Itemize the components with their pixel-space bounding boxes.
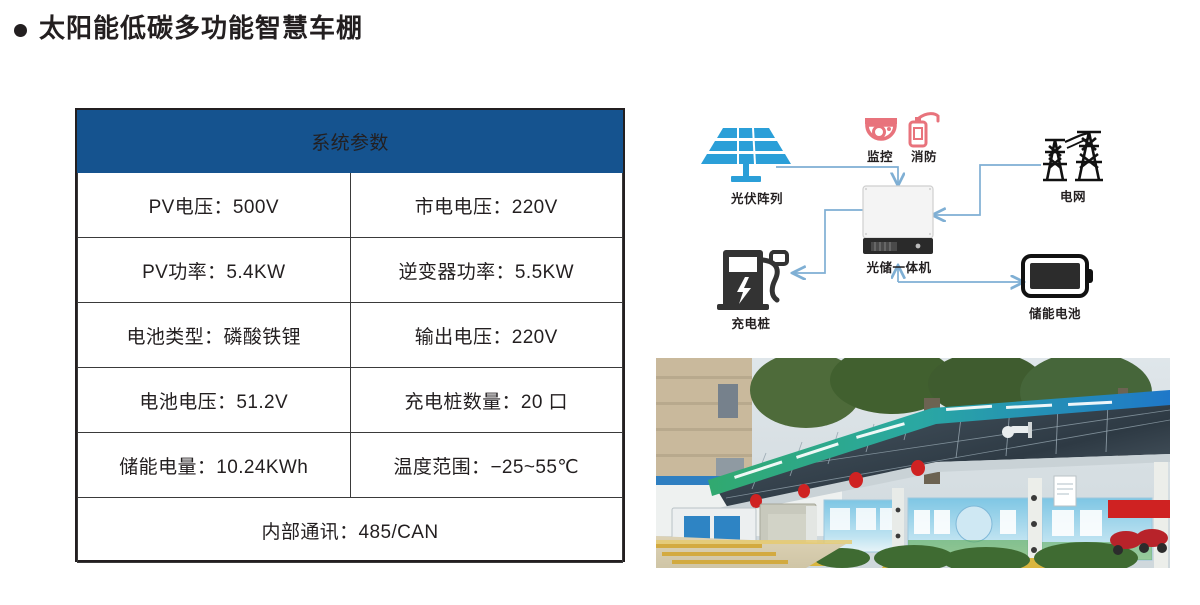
system-parameters-table: 系统参数 PV电压：500V 市电电压：220V PV功率：5.4KW 逆变器功… [75, 108, 625, 562]
table-header-row: 系统参数 [78, 111, 623, 173]
cell-pv-power: PV功率：5.4KW [78, 238, 351, 303]
hybrid-inverter-icon [863, 186, 933, 254]
fire-extinguisher-icon [910, 114, 938, 146]
table-row: 内部通讯：485/CAN [78, 498, 623, 563]
table-header-label: 系统参数 [78, 111, 623, 173]
storage-battery-icon [1023, 256, 1093, 296]
page-title-label: 太阳能低碳多功能智慧车棚 [39, 14, 363, 43]
cell-battery-voltage: 电池电压：51.2V [78, 368, 351, 433]
page-title: 太阳能低碳多功能智慧车棚 [14, 14, 363, 43]
table-row: PV功率：5.4KW 逆变器功率：5.5KW [78, 238, 623, 303]
solar-carport-photo [656, 358, 1170, 568]
system-flow-diagram: 光伏阵列 监控 消防 电网 光储一体机 充电桩 储能电池 [655, 100, 1185, 350]
cell-inverter-power: 逆变器功率：5.5KW [350, 238, 623, 303]
table-row: PV电压：500V 市电电压：220V [78, 173, 623, 238]
cell-mains-voltage: 市电电压：220V [350, 173, 623, 238]
label-battery: 储能电池 [1021, 303, 1089, 322]
table-row: 电池电压：51.2V 充电桩数量：20 口 [78, 368, 623, 433]
ev-charging-pile-icon [717, 250, 787, 310]
cell-battery-type: 电池类型：磷酸铁锂 [78, 303, 351, 368]
cell-output-voltage: 输出电压：220V [350, 303, 623, 368]
cell-internal-communication: 内部通讯：485/CAN [78, 498, 623, 563]
solar-panel-icon [701, 128, 791, 182]
slide-page: 太阳能低碳多功能智慧车棚 系统参数 PV电压：500V 市电电压：220V PV… [0, 0, 1200, 605]
table-row: 电池类型：磷酸铁锂 输出电压：220V [78, 303, 623, 368]
label-grid: 电网 [1043, 186, 1103, 205]
cell-charger-count: 充电桩数量：20 口 [350, 368, 623, 433]
label-charger: 充电桩 [719, 313, 783, 332]
filled-circle-bullet-icon [14, 24, 27, 37]
table-row: 储能电量：10.24KWh 温度范围：−25~55℃ [78, 433, 623, 498]
cctv-camera-icon [865, 118, 897, 139]
cell-storage-capacity: 储能电量：10.24KWh [78, 433, 351, 498]
label-inverter: 光储一体机 [851, 257, 947, 276]
cell-temperature-range: 温度范围：−25~55℃ [350, 433, 623, 498]
cell-pv-voltage: PV电压：500V [78, 173, 351, 238]
power-tower-icon [1043, 132, 1103, 180]
label-fire: 消防 [903, 146, 945, 165]
label-pv-array: 光伏阵列 [715, 188, 799, 207]
connector-grid-to-inverter [933, 165, 1041, 215]
connector-pv-to-inverter [776, 167, 898, 185]
label-monitoring: 监控 [859, 146, 901, 165]
